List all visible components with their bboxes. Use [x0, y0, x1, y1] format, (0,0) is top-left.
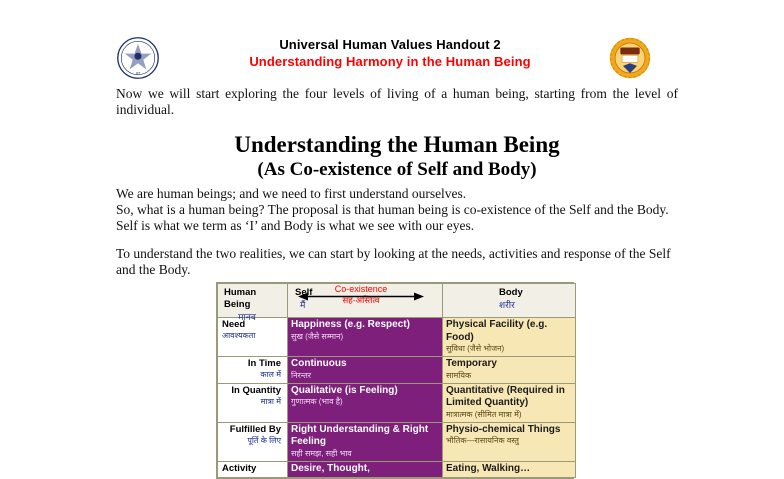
row-label-in-quantity-en: In Quantity	[221, 385, 281, 397]
table-row: In Quantity मात्रा में Qualitative (is F…	[218, 383, 576, 422]
header-body-hi: शरीर	[499, 299, 572, 311]
header-body-en: Body	[499, 285, 572, 299]
self-need-en: Happiness (e.g. Respect)	[291, 319, 439, 332]
table-row: Need आवश्यकता Happiness (e.g. Respect) स…	[218, 318, 576, 357]
body-in-quantity-en: Quantitative (Required in Limited Quanti…	[446, 385, 572, 410]
body-cell-activity: Eating, Walking…	[443, 461, 576, 478]
self-cell-fulfilled-by: Right Understanding & Right Feeling सही …	[288, 422, 443, 461]
svg-text:IIT: IIT	[136, 71, 141, 76]
paragraph-two: We are human beings; and we need to firs…	[116, 186, 678, 234]
row-label-fulfilled-by: Fulfilled By पूर्ति के लिए	[218, 422, 288, 461]
page-title: Universal Human Values Handout 2	[160, 36, 620, 53]
row-label-in-quantity: In Quantity मात्रा में	[218, 383, 288, 422]
self-fulfilled-by-en: Right Understanding & Right Feeling	[291, 424, 439, 449]
self-cell-activity: Desire, Thought,	[288, 461, 443, 478]
title-block: Universal Human Values Handout 2 Underst…	[160, 36, 620, 70]
paragraph-two-text: We are human beings; and we need to firs…	[116, 186, 669, 233]
row-label-in-quantity-hi: मात्रा में	[221, 397, 281, 407]
body-activity-en: Eating, Walking…	[446, 463, 572, 476]
table-row: Fulfilled By पूर्ति के लिए Right Underst…	[218, 422, 576, 461]
header-self-hi: मैं	[295, 299, 439, 311]
page-header: IIT Universal Human Values Handout 2 Und…	[0, 30, 784, 86]
body-need-en: Physical Facility (e.g. Food)	[446, 319, 572, 344]
row-label-in-time-hi: काल में	[221, 370, 281, 380]
institute-emblem-left-icon: IIT	[116, 36, 160, 80]
self-in-time-hi: निरन्तर	[291, 371, 439, 381]
header-self-en: Self	[295, 285, 439, 299]
self-cell-in-quantity: Qualitative (is Feeling) गुणात्मक (भाव ह…	[288, 383, 443, 422]
self-cell-need: Happiness (e.g. Respect) सुख (जैसे सम्मा…	[288, 318, 443, 357]
row-label-need-hi: आवश्यकता	[222, 331, 281, 341]
row-label-in-time-en: In Time	[221, 358, 281, 370]
body-in-time-en: Temporary	[446, 358, 572, 371]
self-body-comparison-table: Human Being मानव Self मैं Body शरीर	[216, 282, 574, 479]
self-cell-in-time: Continuous निरन्तर	[288, 357, 443, 384]
body-in-time-hi: सामयिक	[446, 371, 572, 381]
page-subtitle: Understanding Harmony in the Human Being	[160, 53, 620, 70]
paragraph-three: To understand the two realities, we can …	[116, 246, 678, 278]
table-row: Activity Desire, Thought, Eating, Walkin…	[218, 461, 576, 478]
header-cell-body: Body शरीर	[443, 284, 576, 318]
row-label-need: Need आवश्यकता	[218, 318, 288, 357]
self-fulfilled-by-hi: सही समझ, सही भाव	[291, 449, 439, 459]
row-label-activity-en: Activity	[222, 463, 281, 475]
intro-paragraph: Now we will start exploring the four lev…	[116, 86, 678, 118]
header-cell-human-being: Human Being मानव	[218, 284, 288, 318]
section-subheading: (As Co-existence of Self and Body)	[116, 158, 678, 182]
row-label-activity: Activity	[218, 461, 288, 478]
body-in-quantity-hi: मात्रात्मक (सीमित मात्रा में)	[446, 410, 572, 420]
institute-emblem-right-icon	[608, 36, 652, 80]
body-need-hi: सुविधा (जैसे भोजन)	[446, 344, 572, 354]
body-fulfilled-by-hi: भौतिक—रासायनिक वस्तु	[446, 436, 572, 446]
header-human-being-en: Human Being	[224, 285, 284, 311]
body-cell-need: Physical Facility (e.g. Food) सुविधा (जै…	[443, 318, 576, 357]
table-header-row: Human Being मानव Self मैं Body शरीर	[218, 284, 576, 318]
self-in-quantity-hi: गुणात्मक (भाव है)	[291, 397, 439, 407]
body-cell-in-quantity: Quantitative (Required in Limited Quanti…	[443, 383, 576, 422]
body-cell-in-time: Temporary सामयिक	[443, 357, 576, 384]
body-fulfilled-by-en: Physio-chemical Things	[446, 424, 572, 437]
self-need-hi: सुख (जैसे सम्मान)	[291, 332, 439, 342]
header-cell-self: Self मैं	[288, 284, 443, 318]
self-activity-en: Desire, Thought,	[291, 463, 439, 476]
self-in-time-en: Continuous	[291, 358, 439, 371]
section-heading: Understanding the Human Being	[116, 132, 678, 158]
body-cell-fulfilled-by: Physio-chemical Things भौतिक—रासायनिक वस…	[443, 422, 576, 461]
row-label-fulfilled-by-en: Fulfilled By	[221, 424, 281, 436]
header-human-being-hi: मानव	[224, 311, 284, 323]
row-label-in-time: In Time काल में	[218, 357, 288, 384]
self-in-quantity-en: Qualitative (is Feeling)	[291, 385, 439, 398]
table-row: In Time काल में Continuous निरन्तर Tempo…	[218, 357, 576, 384]
